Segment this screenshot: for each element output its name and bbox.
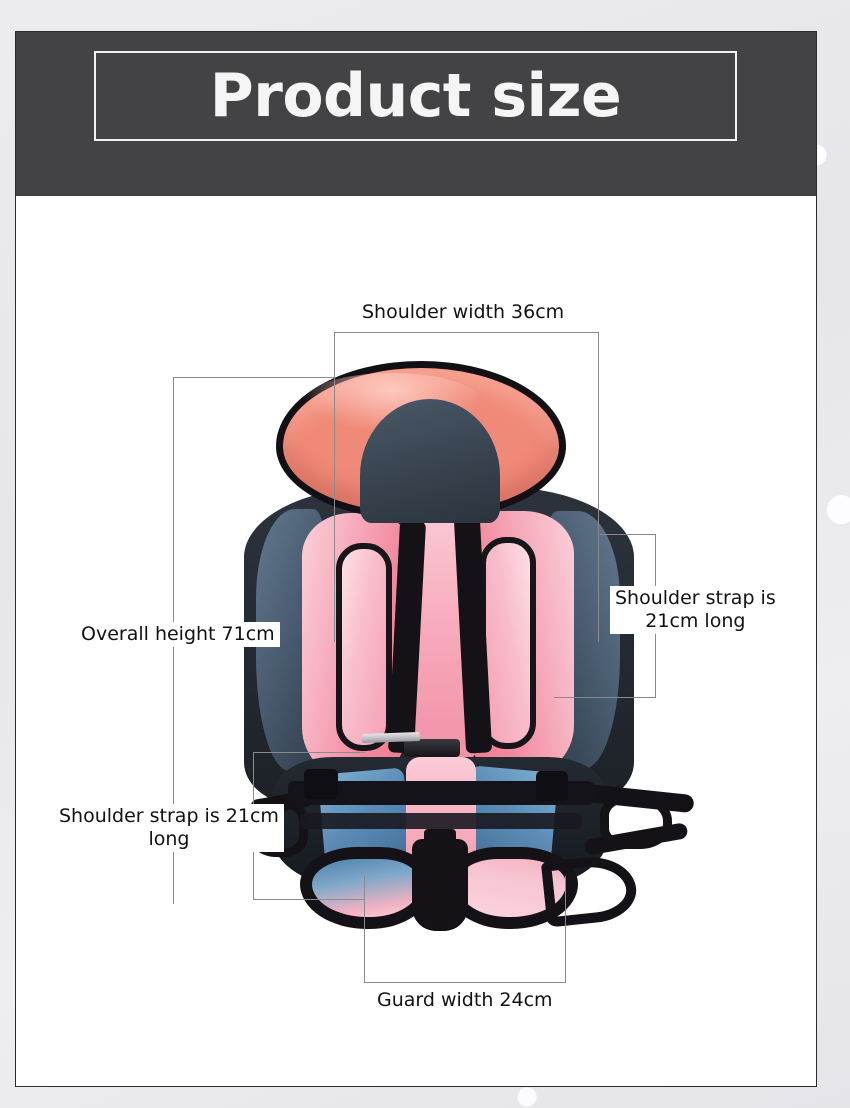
bracket-overall-height-top (173, 377, 335, 378)
label-shoulder-strap-left: Shoulder strap is 21cm long (54, 804, 284, 852)
lap-webbing-lower (300, 813, 582, 829)
bracket-shoulder-width-top (334, 332, 599, 333)
label-overall-height: Overall height 71cm (76, 622, 280, 647)
label-shoulder-strap-right: Shoulder strap is 21cm long (610, 586, 781, 634)
bracket-strap-left-top-arm (253, 752, 365, 753)
buckle-right (536, 771, 568, 801)
diagram-area: Shoulder width 36cm Overall height 71cm … (16, 196, 817, 1087)
bracket-guard-width-bottom (364, 982, 566, 983)
buckle-left (304, 769, 338, 799)
bracket-shoulder-width-right (598, 332, 599, 642)
label-shoulder-width: Shoulder width 36cm (357, 300, 569, 325)
bracket-strap-left-bottom-arm (253, 899, 365, 900)
shoulder-strap-pad-left (336, 543, 392, 751)
leg-divider (412, 839, 468, 931)
product-image-car-seat (244, 361, 634, 931)
bracket-strap-right-bottom-arm (554, 697, 656, 698)
page-title: Product size (210, 66, 621, 126)
header-bar: Product size (16, 32, 817, 196)
buckle-center (404, 739, 460, 757)
bracket-guard-width-right (565, 876, 566, 982)
label-guard-width: Guard width 24cm (372, 988, 558, 1013)
product-size-card: Product size (15, 31, 817, 1087)
bracket-shoulder-width-left (334, 332, 335, 642)
leg-strap-right (541, 852, 639, 927)
title-frame: Product size (94, 51, 737, 141)
bracket-guard-width-left (364, 876, 365, 982)
bracket-strap-right-top-arm (600, 534, 656, 535)
